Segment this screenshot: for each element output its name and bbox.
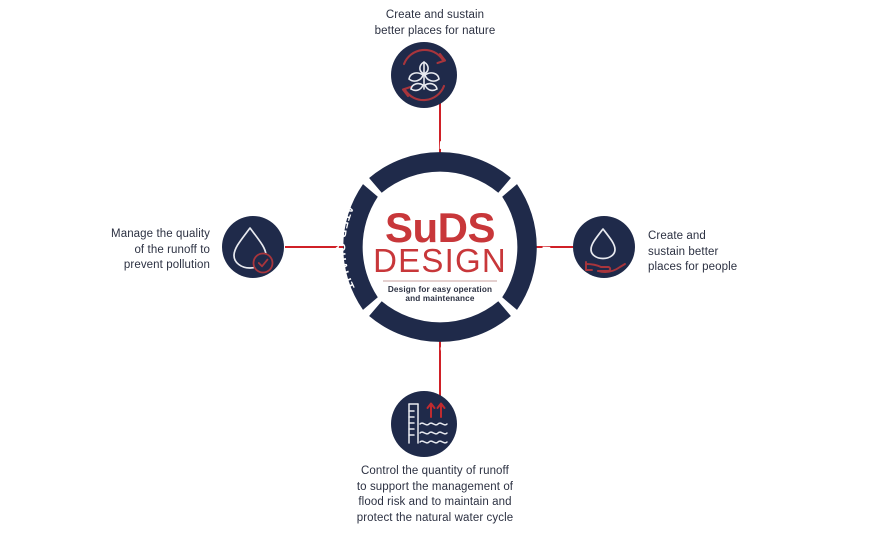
callout-line: flood risk and to maintain and — [330, 495, 540, 511]
ring-segment-amenity[interactable] — [502, 184, 537, 310]
icon-circle-water-quality — [222, 216, 284, 278]
callout-line: Control the quantity of runoff — [330, 464, 540, 480]
callout-text-water-quality: Manage the quality of the runoff to prev… — [60, 227, 210, 274]
callout-icon-water-quantity[interactable] — [391, 391, 457, 457]
callout-line: places for people — [648, 260, 818, 276]
callout-line: Create and sustain — [350, 8, 520, 24]
center-title-secondary: DESIGN — [373, 242, 507, 279]
icon-circle-amenity — [573, 216, 635, 278]
callout-text-biodiversity: Create and sustain better places for nat… — [350, 8, 520, 39]
callout-line: of the runoff to — [60, 243, 210, 259]
ring-segment-biodiversity[interactable] — [369, 152, 511, 193]
callout-icon-water-quality[interactable] — [222, 216, 284, 278]
callout-icon-biodiversity[interactable] — [391, 42, 457, 108]
callout-line: to support the management of — [330, 480, 540, 496]
callout-icon-amenity[interactable] — [573, 216, 635, 278]
callout-line: sustain better — [648, 245, 818, 261]
center-tagline-line2: and maintenance — [405, 294, 474, 303]
callout-text-water-quantity: Control the quantity of runoff to suppor… — [330, 464, 540, 526]
suds-design-diagram: BIODIVERSITY WATER QUANTITY WATER QUALIT… — [0, 0, 870, 534]
callout-line: protect the natural water cycle — [330, 511, 540, 527]
callout-line: Create and — [648, 229, 818, 245]
callout-line: better places for nature — [350, 24, 520, 40]
callout-line: prevent pollution — [60, 258, 210, 274]
center-tagline-line1: Design for easy operation — [388, 285, 492, 294]
callout-line: Manage the quality — [60, 227, 210, 243]
callout-text-amenity: Create and sustain better places for peo… — [648, 229, 818, 276]
